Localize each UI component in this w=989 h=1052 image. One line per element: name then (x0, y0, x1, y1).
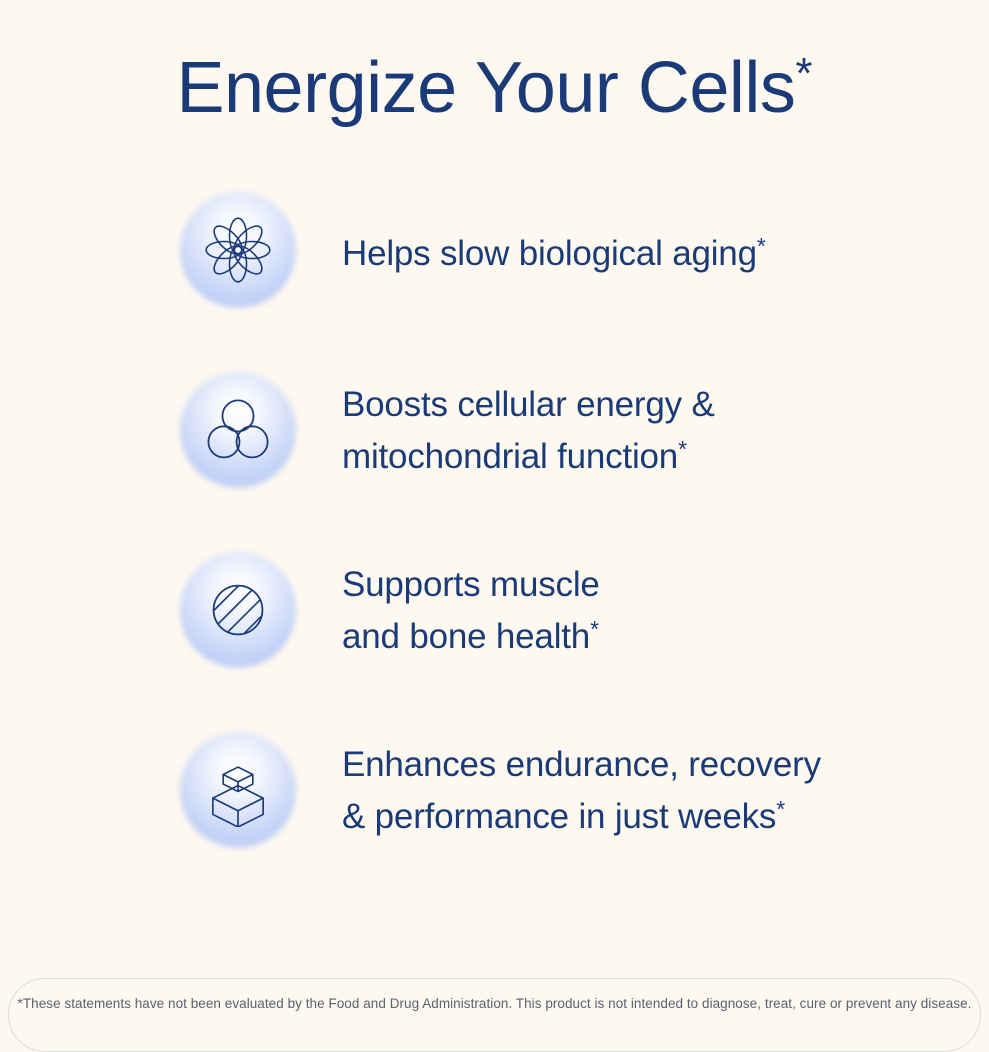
benefit-label-endurance: Enhances endurance, recovery & performan… (342, 742, 821, 839)
benefit-line-1: Supports muscle (342, 565, 600, 604)
icon-orb-aging (178, 190, 298, 310)
benefit-line-2: & performance in just weeks (342, 797, 776, 836)
benefit-asterisk: * (776, 796, 785, 822)
benefit-line-1: Boosts cellular energy & (342, 385, 715, 424)
benefit-label-muscle-bone: Supports muscle and bone health* (342, 562, 600, 659)
benefit-line-2: and bone health (342, 617, 590, 656)
benefit-line-1: Helps slow biological aging (342, 234, 757, 273)
page-title: Energize Your Cells* (0, 31, 989, 131)
benefit-asterisk: * (678, 436, 687, 462)
page-title-asterisk: * (795, 49, 812, 98)
disclaimer-box: *These statements have not been evaluate… (8, 978, 981, 1052)
benefit-item-muscle-bone: Supports muscle and bone health* (0, 520, 989, 700)
icon-orb-muscle-bone (178, 550, 298, 670)
disclaimer-text: *These statements have not been evaluate… (18, 995, 972, 1013)
icon-orb-endurance (178, 730, 298, 850)
flower-rosette-icon (201, 213, 275, 287)
benefits-list: Helps slow biological aging* Boosts cell… (0, 160, 989, 880)
benefit-item-endurance: Enhances endurance, recovery & performan… (0, 700, 989, 880)
benefit-label-aging: Helps slow biological aging* (342, 224, 766, 276)
stacked-cubes-icon (201, 753, 275, 827)
page-title-text: Energize Your Cells (176, 48, 795, 128)
benefit-label-cellular-energy: Boosts cellular energy & mitochondrial f… (342, 382, 715, 479)
benefit-item-cellular-energy: Boosts cellular energy & mitochondrial f… (0, 340, 989, 520)
benefit-line-1: Enhances endurance, recovery (342, 745, 821, 784)
benefit-asterisk: * (590, 616, 599, 642)
three-circles-icon (201, 393, 275, 467)
benefit-item-aging: Helps slow biological aging* (0, 160, 989, 340)
benefit-asterisk: * (757, 233, 766, 259)
icon-orb-cellular-energy (178, 370, 298, 490)
benefit-line-2: mitochondrial function (342, 437, 678, 476)
hatched-circle-icon (201, 573, 275, 647)
